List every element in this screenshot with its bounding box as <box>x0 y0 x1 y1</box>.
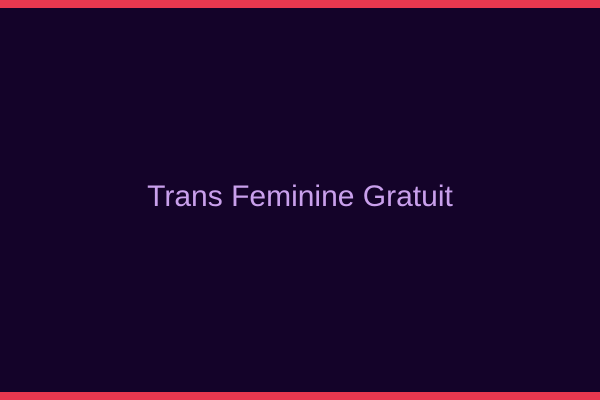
placeholder-caption: Trans Feminine Gratuit <box>147 180 453 214</box>
placeholder-image-card: Trans Feminine Gratuit <box>0 0 600 400</box>
